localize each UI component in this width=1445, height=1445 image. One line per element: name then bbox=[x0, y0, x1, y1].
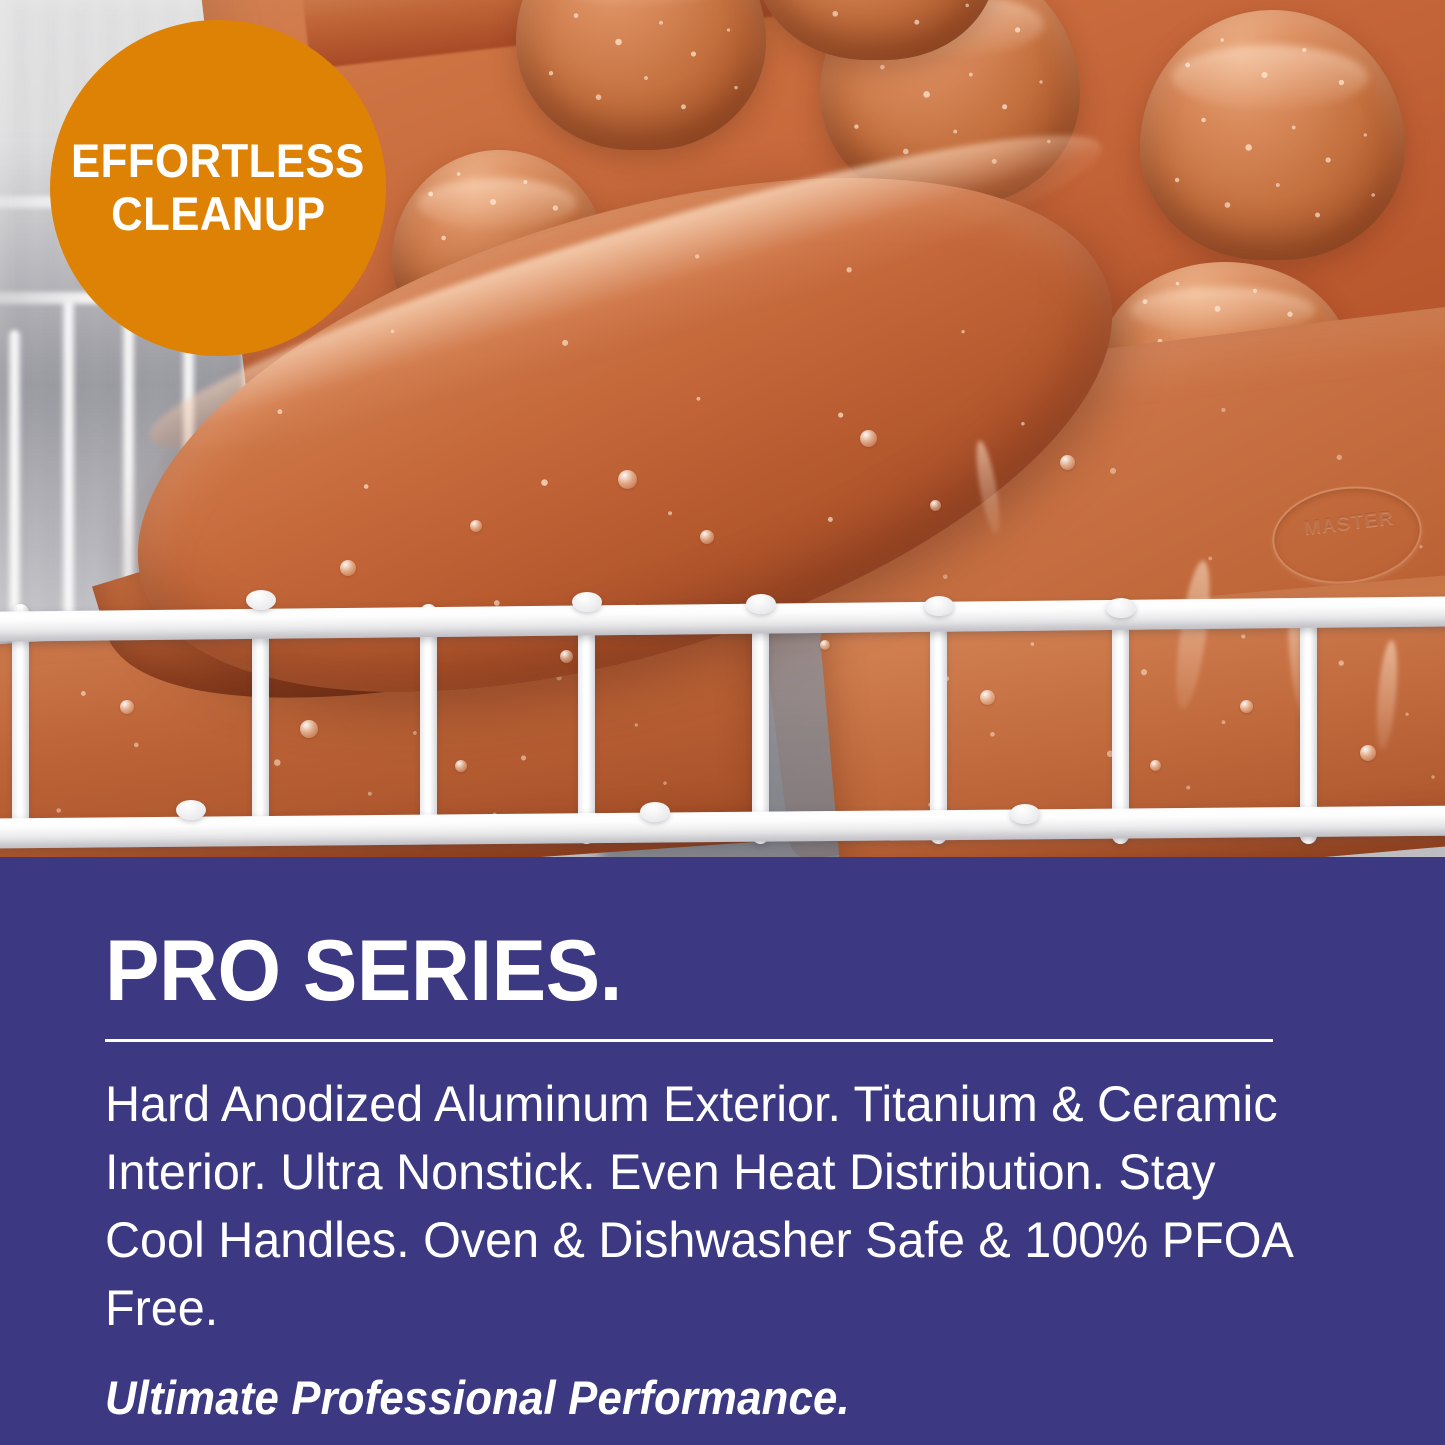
water-droplet bbox=[560, 650, 573, 663]
water-droplet bbox=[340, 560, 356, 576]
water-droplet bbox=[1240, 700, 1253, 713]
rack-joint-nub bbox=[572, 592, 602, 612]
rack-joint-nub bbox=[1106, 598, 1136, 618]
water-droplet bbox=[455, 760, 467, 772]
water-droplet bbox=[820, 640, 830, 650]
water-droplet bbox=[120, 700, 134, 714]
water-droplet bbox=[618, 470, 637, 489]
water-droplet bbox=[300, 720, 318, 738]
product-photo: MASTER bbox=[0, 0, 1445, 857]
water-droplet bbox=[1150, 760, 1161, 771]
rack-tine bbox=[252, 604, 269, 844]
feature-description: Hard Anodized Aluminum Exterior. Titaniu… bbox=[105, 1070, 1296, 1342]
water-droplet bbox=[700, 530, 714, 544]
product-info-panel: PRO SERIES. Hard Anodized Aluminum Exter… bbox=[0, 857, 1445, 1445]
water-droplet bbox=[930, 500, 941, 511]
water-droplet bbox=[1360, 745, 1376, 761]
water-droplet bbox=[470, 520, 482, 532]
rack-joint-nub bbox=[640, 802, 670, 822]
water-droplet bbox=[980, 690, 995, 705]
water-droplet bbox=[1060, 455, 1075, 470]
rack-joint-nub bbox=[924, 596, 954, 616]
badge-line-1: EFFORTLESS bbox=[71, 135, 365, 188]
rack-tine bbox=[420, 604, 437, 844]
water-droplet bbox=[860, 430, 877, 447]
rack-tine bbox=[752, 604, 769, 844]
rack-joint-nub bbox=[746, 594, 776, 614]
effortless-cleanup-badge: EFFORTLESS CLEANUP bbox=[50, 20, 386, 356]
rack-tine bbox=[930, 604, 947, 844]
tagline: Ultimate Professional Performance. bbox=[105, 1372, 1254, 1424]
background-rack-wire bbox=[62, 300, 75, 630]
title-divider bbox=[105, 1039, 1273, 1042]
rack-joint-nub bbox=[1010, 804, 1040, 824]
page-title: PRO SERIES. bbox=[105, 935, 1278, 1009]
panel-content: PRO SERIES. Hard Anodized Aluminum Exter… bbox=[0, 857, 1445, 1424]
rack-joint-nub bbox=[246, 590, 276, 610]
badge-line-2: CLEANUP bbox=[111, 188, 326, 241]
background-rack-wire bbox=[8, 330, 21, 630]
product-ad-card: MASTER bbox=[0, 0, 1445, 1445]
rack-joint-nub bbox=[176, 800, 206, 820]
rack-tine bbox=[578, 604, 595, 844]
